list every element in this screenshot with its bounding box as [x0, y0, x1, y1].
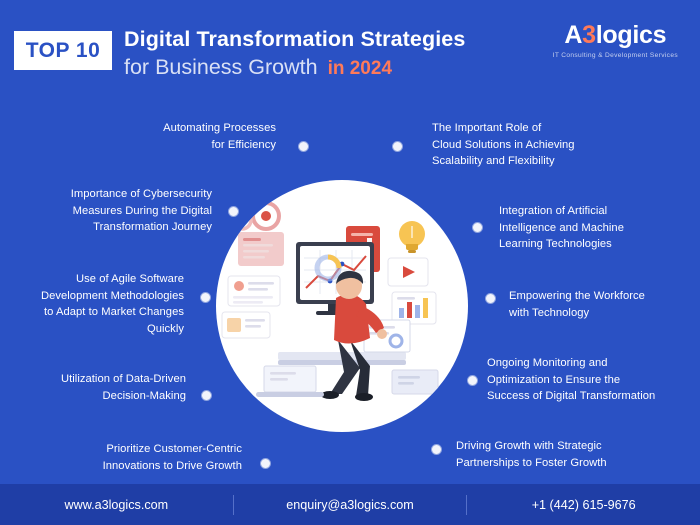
logo-word-logics: logics: [596, 21, 666, 49]
list-item-empowering-workforce: Empowering the Workforce with Technology: [509, 288, 695, 321]
list-item-dot-ai-ml-integration: [472, 222, 483, 233]
page-title-year-accent: in 2024: [328, 58, 392, 79]
list-item-dot-data-driven-decisions: [201, 390, 212, 401]
list-item-label: Ongoing Monitoring and Optimization to E…: [487, 355, 693, 405]
list-item-ongoing-monitoring: Ongoing Monitoring and Optimization to E…: [487, 355, 693, 405]
list-item-label: Use of Agile Software Development Method…: [6, 271, 184, 337]
list-item-ai-ml-integration: Integration of Artificial Intelligence a…: [499, 203, 685, 253]
page-title: Digital Transformation Strategies for Bu…: [124, 25, 544, 84]
list-item-agile-methodologies: Use of Agile Software Development Method…: [6, 271, 184, 337]
center-illustration-circle: [216, 180, 468, 432]
top-10-badge: TOP 10: [14, 31, 112, 70]
footer-website[interactable]: www.a3logics.com: [0, 498, 233, 512]
logo-digit-3: 3: [582, 21, 596, 49]
list-item-automating-processes: Automating Processes for Efficiency: [64, 120, 276, 153]
list-item-label: Automating Processes for Efficiency: [64, 120, 276, 153]
list-item-data-driven-decisions: Utilization of Data-Driven Decision-Maki…: [18, 371, 186, 404]
infographic-page: TOP 10 Digital Transformation Strategies…: [0, 0, 700, 525]
list-item-customer-centric-innovations: Prioritize Customer-Centric Innovations …: [58, 441, 242, 474]
page-title-line-1: Digital Transformation Strategies: [124, 25, 544, 53]
page-title-line-2: for Business Growthin 2024: [124, 53, 544, 84]
footer-bar: www.a3logics.com enquiry@a3logics.com +1…: [0, 484, 700, 525]
logo-letter-a: A: [564, 21, 582, 49]
list-item-dot-cloud-solutions: [392, 141, 403, 152]
list-item-strategic-partnerships: Driving Growth with Strategic Partnershi…: [456, 438, 652, 471]
top-10-badge-label: TOP 10: [26, 39, 101, 63]
list-item-dot-automating-processes: [298, 141, 309, 152]
page-title-line-2-main: for Business Growth: [124, 55, 318, 79]
list-item-dot-strategic-partnerships: [431, 444, 442, 455]
list-item-label: Driving Growth with Strategic Partnershi…: [456, 438, 652, 471]
digital-transformation-illustration: [216, 180, 468, 432]
list-item-label: Integration of Artificial Intelligence a…: [499, 203, 685, 253]
list-item-dot-agile-methodologies: [200, 292, 211, 303]
a3logics-logo: A3logics IT Consulting & Development Ser…: [553, 22, 678, 59]
list-item-label: Importance of Cybersecurity Measures Dur…: [18, 186, 212, 236]
list-item-cybersecurity-measures: Importance of Cybersecurity Measures Dur…: [18, 186, 212, 236]
logo-wordmark: A3logics: [553, 22, 678, 49]
logo-tagline: IT Consulting & Development Services: [553, 52, 678, 59]
footer-phone[interactable]: +1 (442) 615-9676: [467, 498, 700, 512]
list-item-dot-customer-centric-innovations: [260, 458, 271, 469]
list-item-dot-cybersecurity-measures: [228, 206, 239, 217]
list-item-dot-ongoing-monitoring: [467, 375, 478, 386]
list-item-dot-empowering-workforce: [485, 293, 496, 304]
list-item-cloud-solutions: The Important Role of Cloud Solutions in…: [432, 120, 632, 170]
list-item-label: Empowering the Workforce with Technology: [509, 288, 695, 321]
footer-email[interactable]: enquiry@a3logics.com: [234, 498, 467, 512]
list-item-label: Utilization of Data-Driven Decision-Maki…: [18, 371, 186, 404]
list-item-label: Prioritize Customer-Centric Innovations …: [58, 441, 242, 474]
list-item-label: The Important Role of Cloud Solutions in…: [432, 120, 632, 170]
